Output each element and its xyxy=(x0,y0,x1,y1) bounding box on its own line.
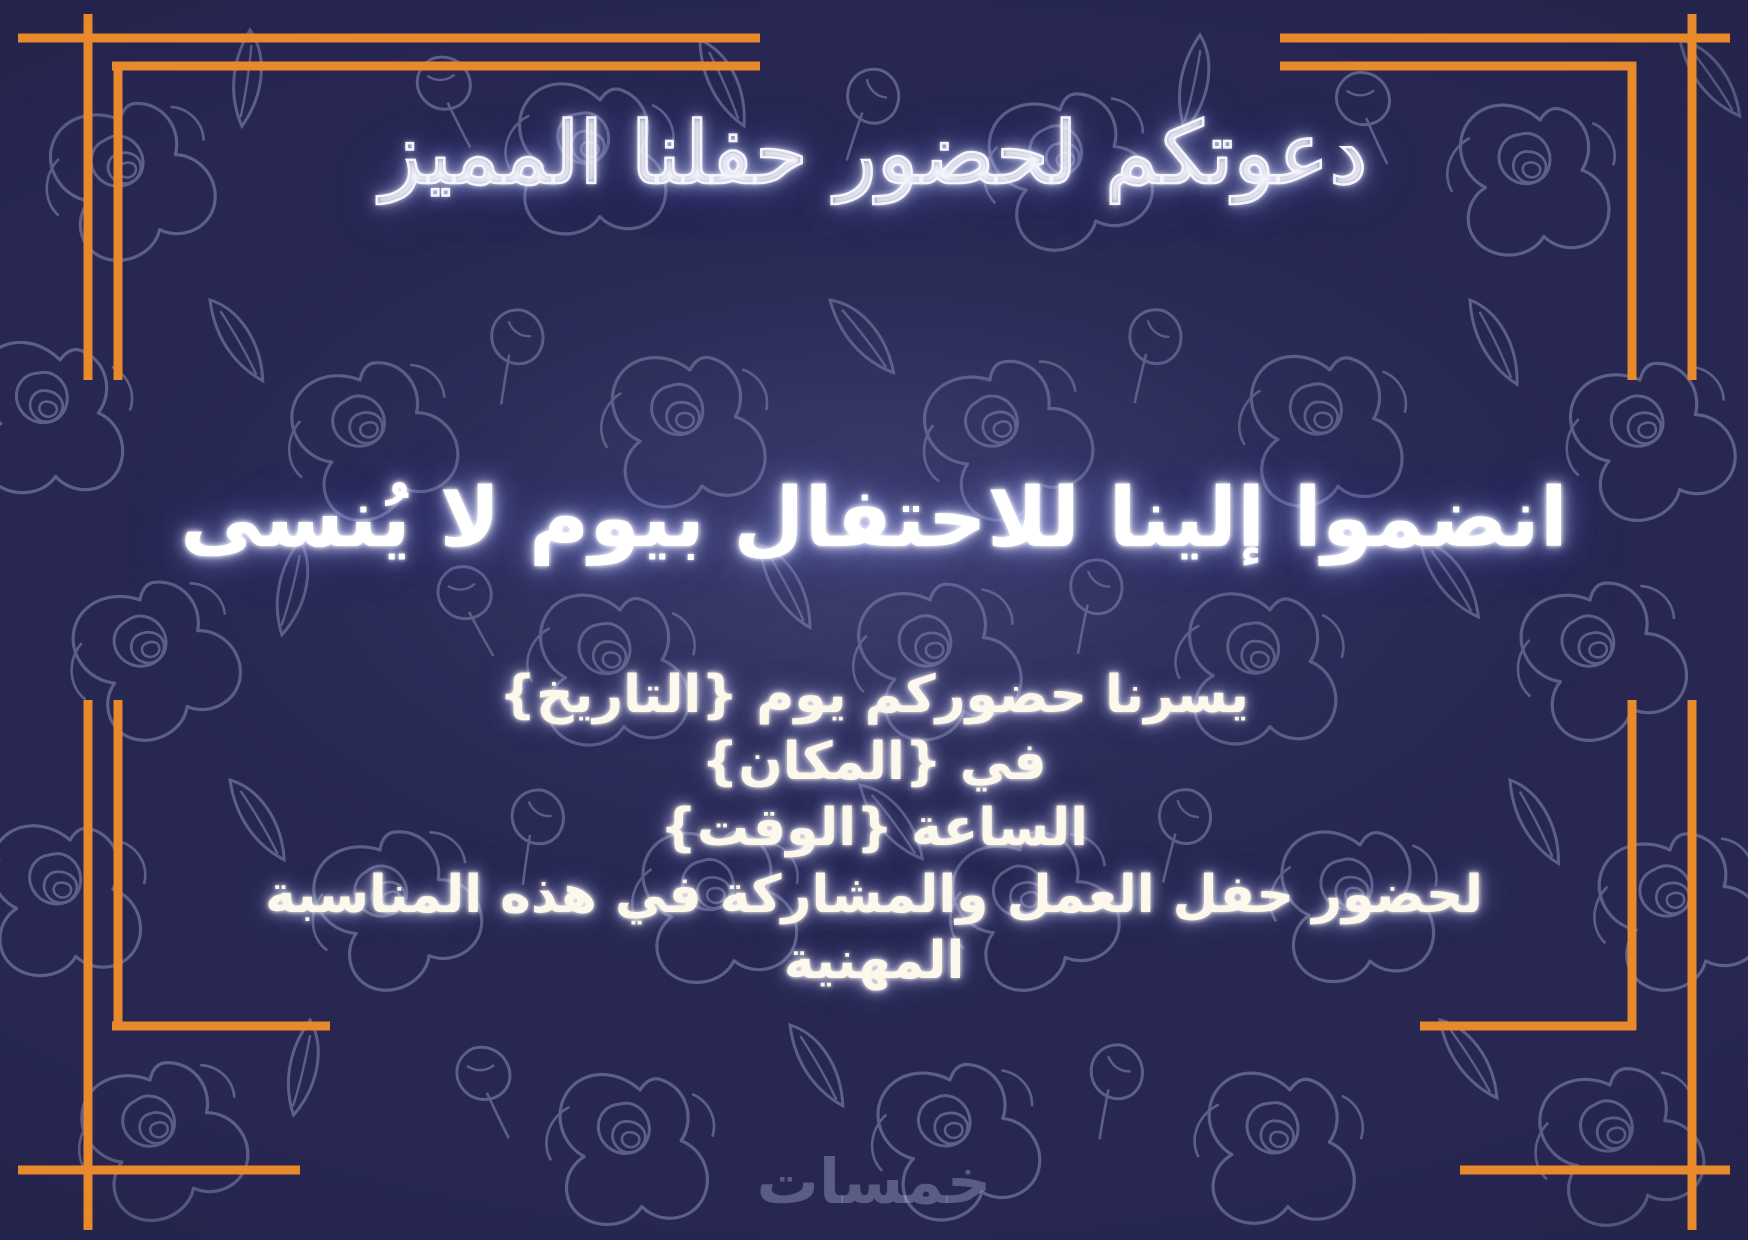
event-detail-line: يسرنا حضوركم يوم {التاريخ} xyxy=(90,662,1658,729)
poster-content: دعوتكم لحضور حفلنا المميز انضموا إلينا ل… xyxy=(0,0,1748,1240)
event-detail-line: المهنية xyxy=(90,928,1658,995)
invitation-poster: دعوتكم لحضور حفلنا المميز انضموا إلينا ل… xyxy=(0,0,1748,1240)
event-detail-line: الساعة {الوقت} xyxy=(90,795,1658,862)
headline-main: انضموا إلينا للاحتفال بيوم لا يُنسى xyxy=(0,470,1748,568)
headline-outline: دعوتكم لحضور حفلنا المميز xyxy=(0,104,1748,205)
watermark: خمسات xyxy=(0,1145,1748,1218)
event-detail-line: في {المكان} xyxy=(90,729,1658,796)
event-details-block: يسرنا حضوركم يوم {التاريخ} في {المكان} ا… xyxy=(90,662,1658,995)
headline-outline-text: دعوتكم لحضور حفلنا المميز xyxy=(380,104,1367,204)
event-detail-line: لحضور حفل العمل والمشاركة في هذه المناسب… xyxy=(90,862,1658,929)
